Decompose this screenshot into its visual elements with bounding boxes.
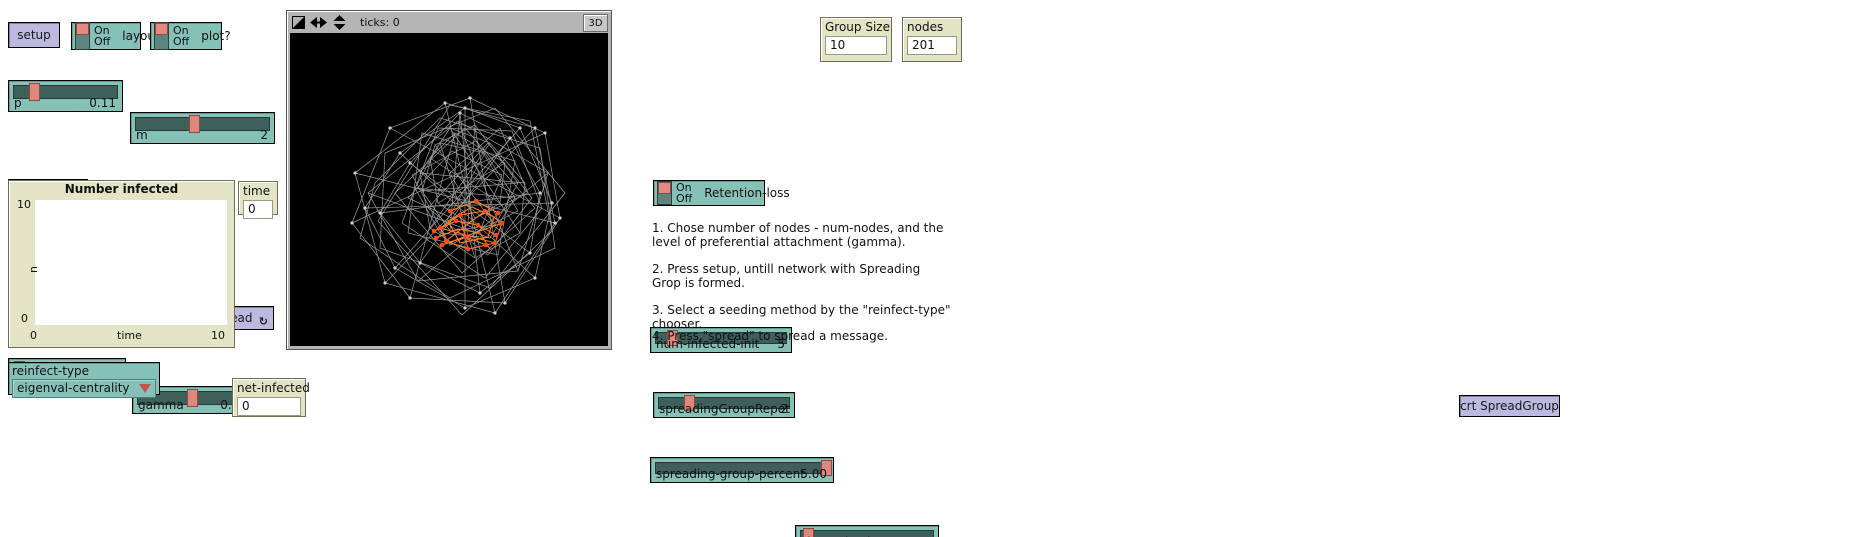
plot-x-label: time — [117, 329, 142, 342]
plot-canvas — [35, 200, 227, 325]
switch-knob-icon[interactable] — [657, 181, 672, 205]
plot-switch-states: On Off — [173, 25, 189, 47]
vertical-arrows-icon[interactable] — [332, 15, 347, 30]
slider-p[interactable]: p 0.11 — [8, 80, 123, 112]
netlogo-interface: setup On Off layout? On Off plot? p 0.11… — [0, 0, 1867, 537]
instruction-note-4: 4. Press "spread" to spread a message. — [652, 329, 982, 343]
retention-loss-switch[interactable]: On Off Retention-loss — [653, 180, 765, 206]
world-canvas[interactable] — [290, 33, 608, 346]
switch-knob-icon[interactable] — [75, 22, 90, 50]
switch-off-label: Off — [676, 193, 692, 204]
reinfect-type-value-box[interactable]: eigenval-centrality — [12, 379, 156, 398]
slider-m-label: m — [136, 128, 148, 142]
time-monitor-value: 0 — [243, 200, 273, 219]
layout-switch-states: On Off — [94, 25, 110, 47]
slider-gamma-label: gamma — [138, 398, 184, 412]
world-view[interactable]: ticks: 0 3D — [286, 10, 612, 350]
plot-switch[interactable]: On Off plot? — [150, 22, 222, 50]
plot-y-max: 10 — [17, 198, 31, 211]
three-d-button[interactable]: 3D — [583, 14, 608, 32]
slider-thumb[interactable] — [29, 83, 40, 101]
group-size-label: Group Size — [825, 20, 887, 34]
instruction-note-1: 1. Chose number of nodes - num-nodes, an… — [652, 221, 952, 249]
plot-y-min: 0 — [21, 312, 28, 325]
slider-thumb[interactable] — [187, 389, 198, 407]
chevron-down-icon[interactable] — [139, 384, 151, 393]
crt-spreadgroup-button[interactable]: crt SpreadGroup — [1459, 395, 1560, 417]
view-resize-icon[interactable] — [292, 16, 305, 29]
instruction-note-3: 3. Select a seeding method by the "reinf… — [652, 303, 982, 331]
view-toolbar: ticks: 0 — [289, 13, 609, 32]
slider-m-value: 2 — [260, 128, 268, 142]
nodes-input[interactable]: nodes 201 — [902, 17, 962, 62]
reinfect-type-chooser[interactable]: reinfect-type eigenval-centrality — [8, 362, 160, 395]
slider-p-value: 0.11 — [89, 96, 116, 110]
slider-spreading-group-percent-value: 5.00 — [800, 467, 827, 481]
three-d-label: 3D — [588, 18, 602, 29]
slider-spreading-group-percent[interactable]: spreading-group-percent 5.00 — [650, 457, 834, 483]
number-infected-plot[interactable]: Number infected 10 0 n 0 time 10 — [8, 180, 235, 348]
plot-y-label: n — [27, 266, 40, 273]
net-infected-monitor[interactable]: net-infected 0 — [232, 378, 306, 417]
horizontal-arrows-icon[interactable] — [310, 16, 327, 29]
layout-switch[interactable]: On Off layout? — [71, 22, 141, 50]
time-monitor-label: time — [243, 184, 273, 198]
setup-button[interactable]: setup — [8, 22, 60, 48]
retention-loss-label: Retention-loss — [704, 186, 789, 200]
crt-spreadgroup-label: crt SpreadGroup — [1460, 399, 1559, 413]
switch-knob-icon[interactable] — [154, 22, 169, 50]
slider-spreading-group-repet-label: spreadingGroupRepet — [659, 402, 790, 416]
nodes-label: nodes — [907, 20, 957, 34]
time-monitor[interactable]: time 0 — [238, 181, 278, 215]
switch-off-label: Off — [173, 36, 189, 47]
slider-spreading-group-percent-label: spreading-group-percent — [656, 467, 805, 481]
plot-x-max: 10 — [211, 329, 225, 342]
forever-loop-icon: ↻ — [259, 316, 268, 327]
ticks-counter: ticks: 0 — [360, 16, 400, 29]
slider-p-label: p — [14, 96, 22, 110]
slider-size-reduction[interactable]: size-reduction 1.50 — [795, 525, 939, 537]
group-size-value[interactable]: 10 — [825, 36, 887, 55]
instruction-note-2: 2. Press setup, untill network with Spre… — [652, 262, 952, 290]
plot-title: Number infected — [9, 182, 234, 197]
plot-switch-label: plot? — [201, 29, 230, 43]
slider-track — [135, 117, 270, 131]
network-graph — [290, 33, 608, 346]
slider-thumb[interactable] — [189, 115, 200, 133]
slider-spreading-group-repet[interactable]: spreadingGroupRepet 2 — [653, 392, 795, 418]
reinfect-type-value: eigenval-centrality — [17, 381, 130, 396]
setup-button-label: setup — [17, 28, 51, 42]
group-size-input[interactable]: Group Size 10 — [820, 17, 892, 62]
slider-spreading-group-repet-value: 2 — [780, 402, 788, 416]
retention-loss-states: On Off — [676, 182, 692, 204]
net-infected-value: 0 — [237, 397, 301, 416]
switch-off-label: Off — [94, 36, 110, 47]
net-infected-label: net-infected — [237, 381, 301, 395]
nodes-value[interactable]: 201 — [907, 36, 957, 55]
reinfect-type-label: reinfect-type — [12, 364, 156, 379]
plot-x-min: 0 — [30, 329, 37, 342]
slider-m[interactable]: m 2 — [130, 112, 275, 144]
